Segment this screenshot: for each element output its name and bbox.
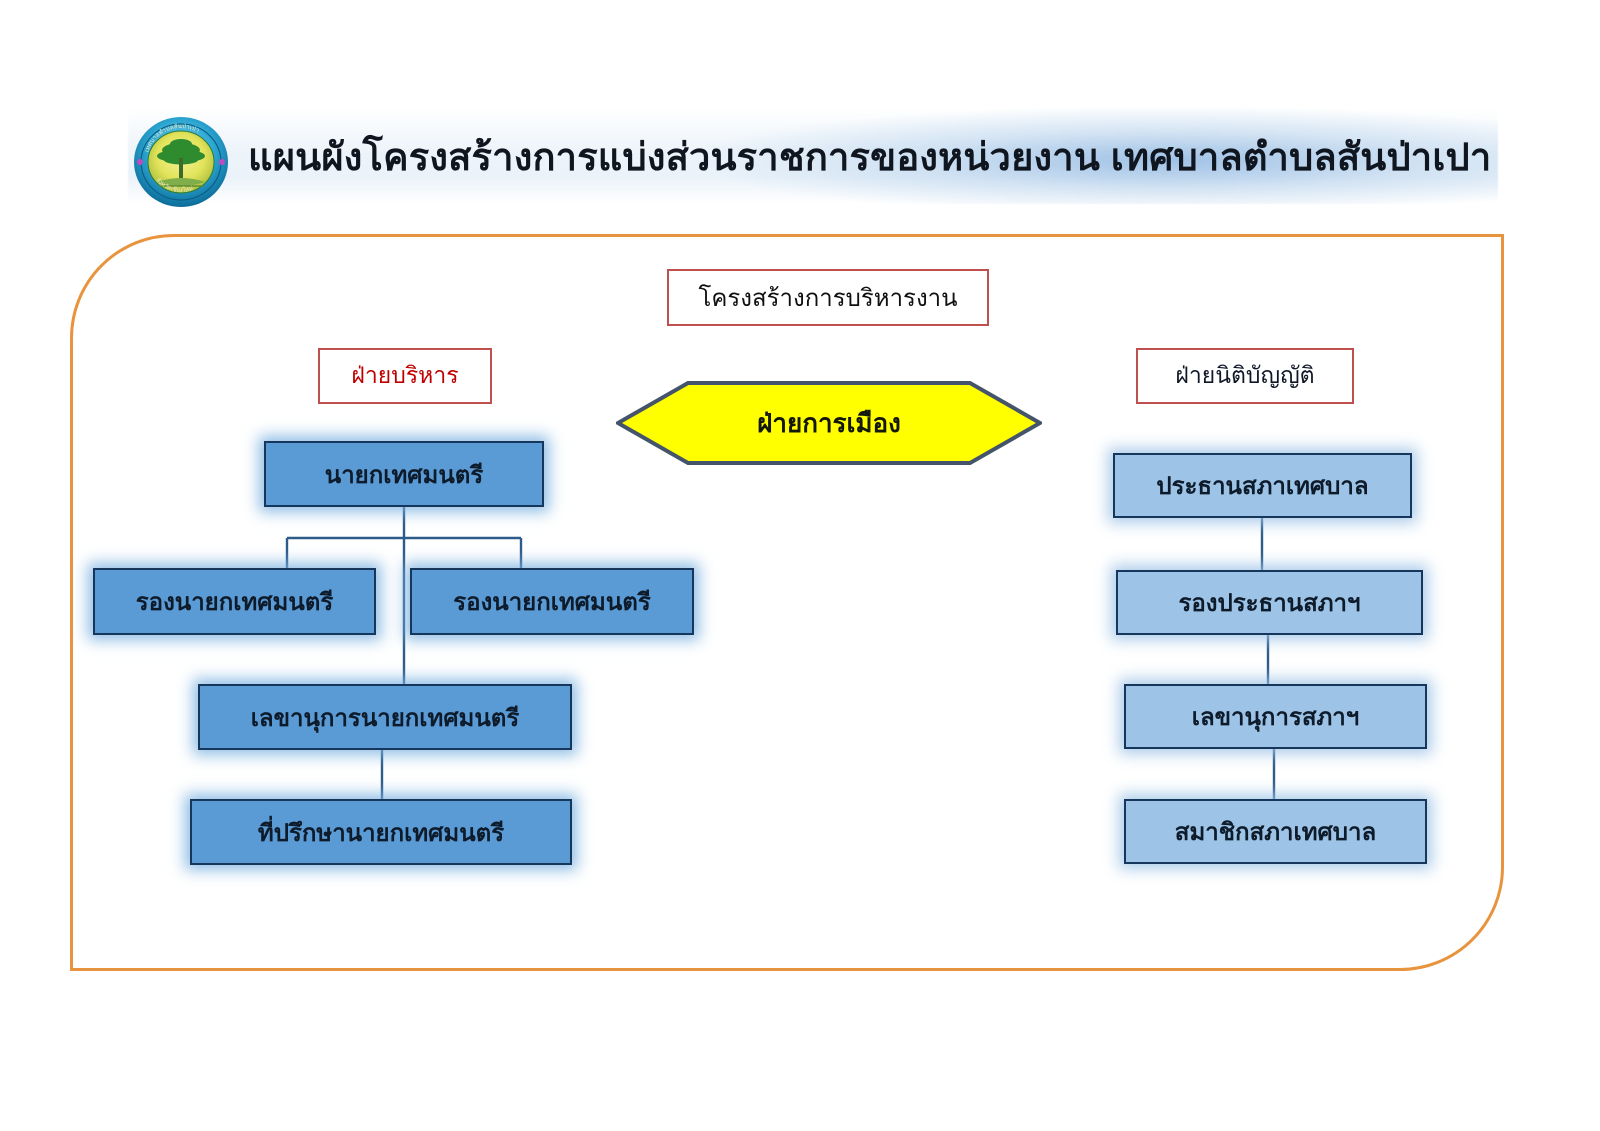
legislative-section-label: ฝ่ายนิติบัญญัติ bbox=[1175, 358, 1314, 394]
political-branch-label: ฝ่ายการเมือง bbox=[616, 381, 1042, 465]
node-deputy-mayor-2[interactable]: รองนายกเทศมนตรี bbox=[410, 568, 694, 635]
node-council-members-label: สมาชิกสภาเทศบาล bbox=[1175, 812, 1376, 851]
center-title-box: โครงสร้างการบริหารงาน bbox=[667, 269, 989, 326]
node-deputy-mayor-1[interactable]: รองนายกเทศมนตรี bbox=[93, 568, 376, 635]
page-title: แผนผังโครงสร้างการแบ่งส่วนราชการของหน่วย… bbox=[248, 127, 1448, 189]
node-council-chairman-label: ประธานสภาเทศบาล bbox=[1156, 466, 1368, 505]
node-mayor-advisor-label: ที่ปรึกษานายกเทศมนตรี bbox=[258, 813, 504, 852]
municipality-seal-tree-icon: เทศบาลตำบลสันป่าเปา จังหวัดเชียงใหม่ bbox=[133, 116, 229, 208]
node-council-members[interactable]: สมาชิกสภาเทศบาล bbox=[1124, 799, 1427, 864]
node-mayor[interactable]: นายกเทศมนตรี bbox=[264, 441, 544, 507]
org-chart-page: เทศบาลตำบลสันป่าเปา จังหวัดเชียงใหม่ แผน… bbox=[0, 0, 1600, 1131]
center-title-label: โครงสร้างการบริหารงาน bbox=[698, 278, 957, 317]
node-deputy-mayor-1-label: รองนายกเทศมนตรี bbox=[136, 582, 333, 621]
political-branch-banner: ฝ่ายการเมือง bbox=[616, 381, 1042, 465]
executive-section-label-box: ฝ่ายบริหาร bbox=[318, 348, 492, 404]
node-council-secretary-label: เลขานุการสภาฯ bbox=[1192, 697, 1360, 736]
node-deputy-mayor-2-label: รองนายกเทศมนตรี bbox=[453, 582, 650, 621]
node-council-secretary[interactable]: เลขานุการสภาฯ bbox=[1124, 684, 1427, 749]
node-mayor-secretary[interactable]: เลขานุการนายกเทศมนตรี bbox=[198, 684, 572, 750]
node-mayor-advisor[interactable]: ที่ปรึกษานายกเทศมนตรี bbox=[190, 799, 572, 865]
legislative-section-label-box: ฝ่ายนิติบัญญัติ bbox=[1136, 348, 1354, 404]
node-mayor-secretary-label: เลขานุการนายกเทศมนตรี bbox=[251, 698, 520, 737]
executive-section-label: ฝ่ายบริหาร bbox=[351, 358, 458, 394]
node-mayor-label: นายกเทศมนตรี bbox=[325, 455, 483, 494]
node-council-vice-chairman-label: รองประธานสภาฯ bbox=[1179, 583, 1361, 622]
node-council-vice-chairman[interactable]: รองประธานสภาฯ bbox=[1116, 570, 1423, 635]
node-council-chairman[interactable]: ประธานสภาเทศบาล bbox=[1113, 453, 1412, 518]
